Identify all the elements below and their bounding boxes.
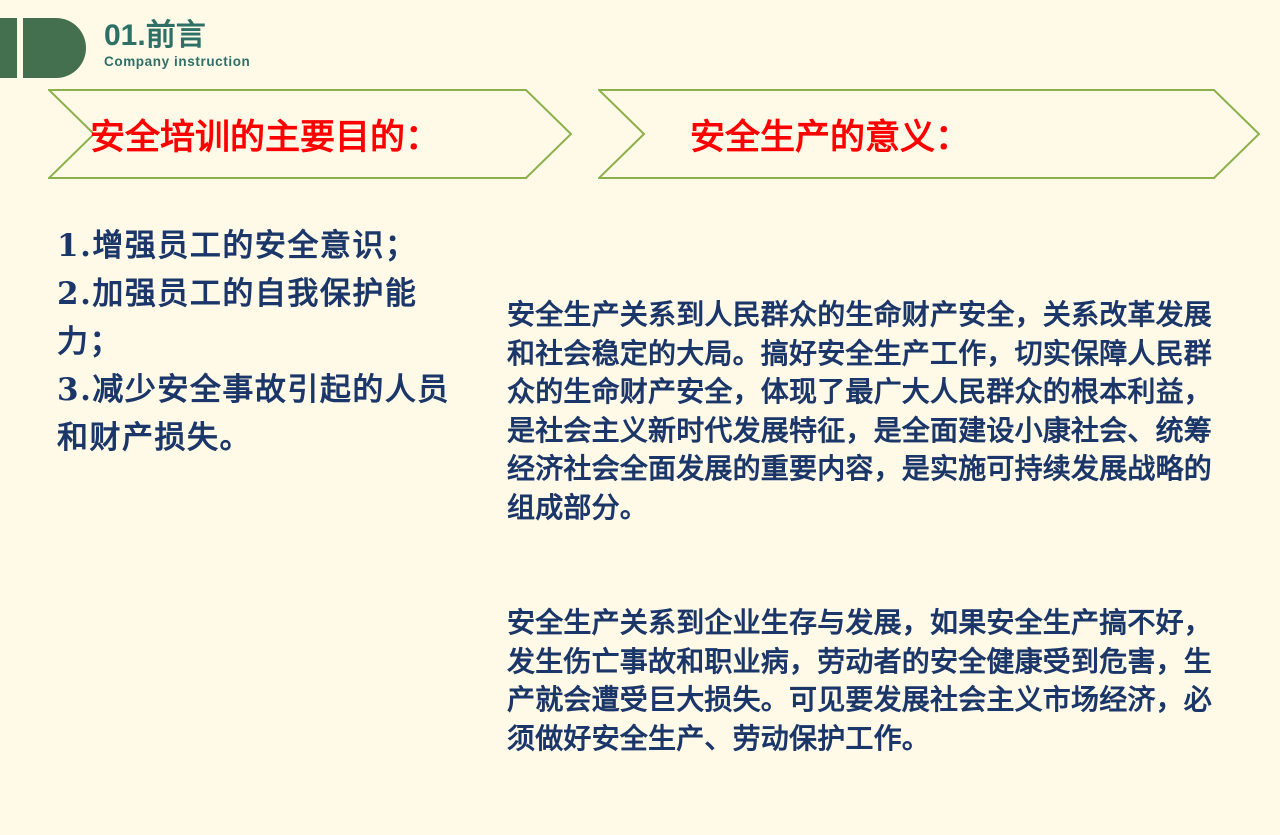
page-title: 01.前言 [104,20,250,52]
significance-paragraph-2: 安全生产关系到企业生存与发展，如果安全生产搞不好，发生伤亡事故和职业病，劳动者的… [507,604,1222,758]
logo-bar-shape [0,18,17,78]
banner-significance-label: 安全生产的意义： [690,89,970,179]
slide-header: 01.前言 Company instruction [0,0,1280,92]
header-text-group: 01.前言 Company instruction [104,20,250,69]
purpose-list-text: 1.增强员工的安全意识； 2.加强员工的自我保护能力； 3.减少安全事故引起的人… [57,222,477,462]
id-logo-icon [0,18,90,78]
slide-canvas: 01.前言 Company instruction 安全培训的主要目的： 安全生… [0,0,1280,720]
significance-paragraph-1: 安全生产关系到人民群众的生命财产安全，关系改革发展和社会稳定的大局。搞好安全生产… [507,296,1222,527]
banner-significance: 安全生产的意义： [598,89,1260,179]
banner-purpose: 安全培训的主要目的： [48,89,572,179]
page-subtitle: Company instruction [104,54,250,69]
banner-purpose-label: 安全培训的主要目的： [90,89,440,179]
significance-body-text: 安全生产关系到人民群众的生命财产安全，关系改革发展和社会稳定的大局。搞好安全生产… [507,219,1222,835]
logo-d-shape [23,18,86,78]
